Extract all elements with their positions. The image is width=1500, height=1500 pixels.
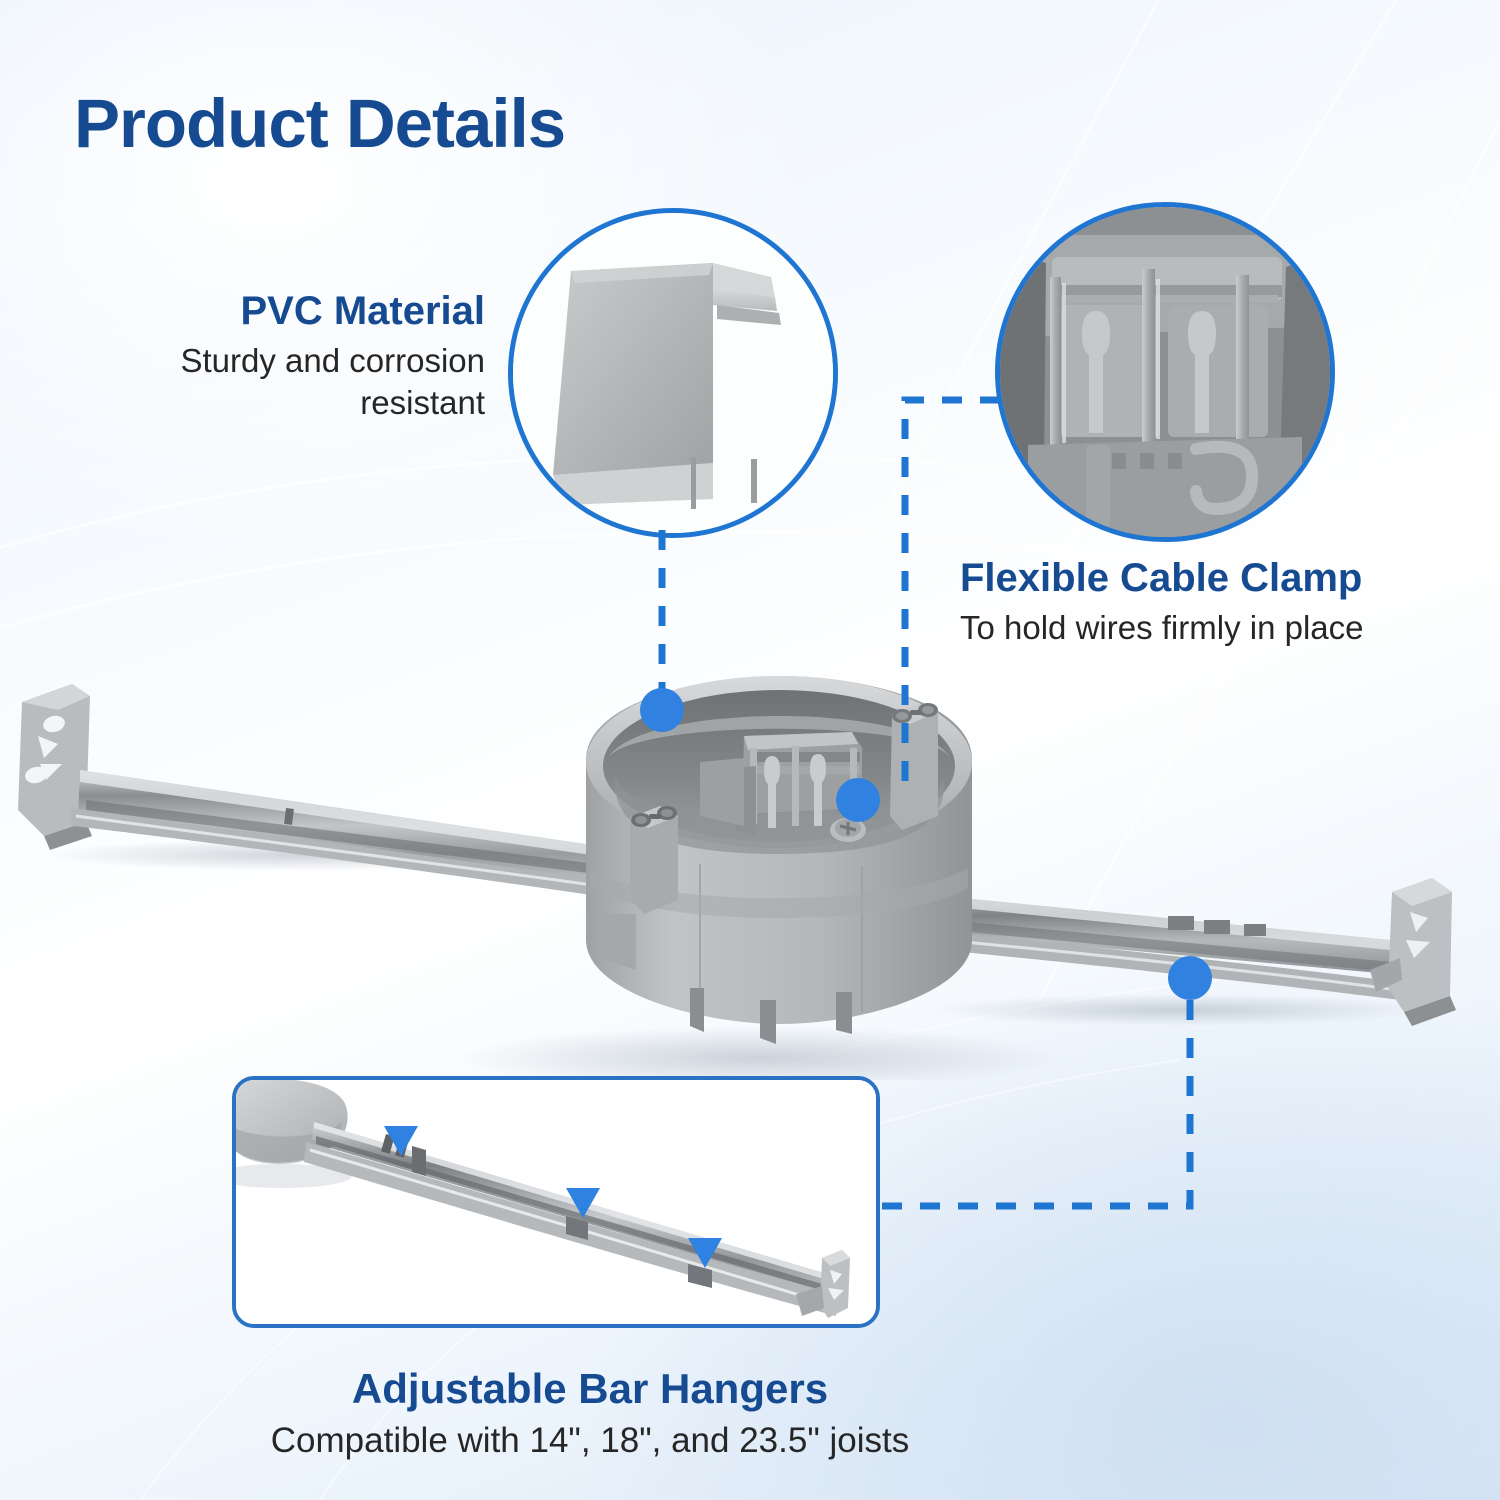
- cable-clamp-title: Flexible Cable Clamp: [960, 552, 1490, 604]
- bar-hangers-subtitle: Compatible with 14", 18", and 23.5" jois…: [0, 1418, 1180, 1464]
- pvc-material-title: PVC Material: [60, 286, 485, 336]
- pvc-material-callout-circle: [508, 208, 838, 538]
- bar-hanger-panel: [232, 1076, 880, 1328]
- pvc-material-subtitle: Sturdy and corrosion resistant: [60, 340, 485, 424]
- page-title: Product Details: [74, 84, 565, 163]
- cable-clamp-callout-circle: [995, 202, 1335, 542]
- product-photo: [0, 640, 1500, 1080]
- bar-hangers-title: Adjustable Bar Hangers: [0, 1362, 1180, 1416]
- cable-clamp-text-block: Flexible Cable Clamp To hold wires firml…: [960, 552, 1490, 650]
- round-electrical-box: [586, 676, 972, 1044]
- pvc-material-text-block: PVC Material Sturdy and corrosion resist…: [60, 286, 485, 424]
- product-details-infographic: Product Details: [0, 0, 1500, 1500]
- bar-hangers-text-block: Adjustable Bar Hangers Compatible with 1…: [0, 1362, 1180, 1464]
